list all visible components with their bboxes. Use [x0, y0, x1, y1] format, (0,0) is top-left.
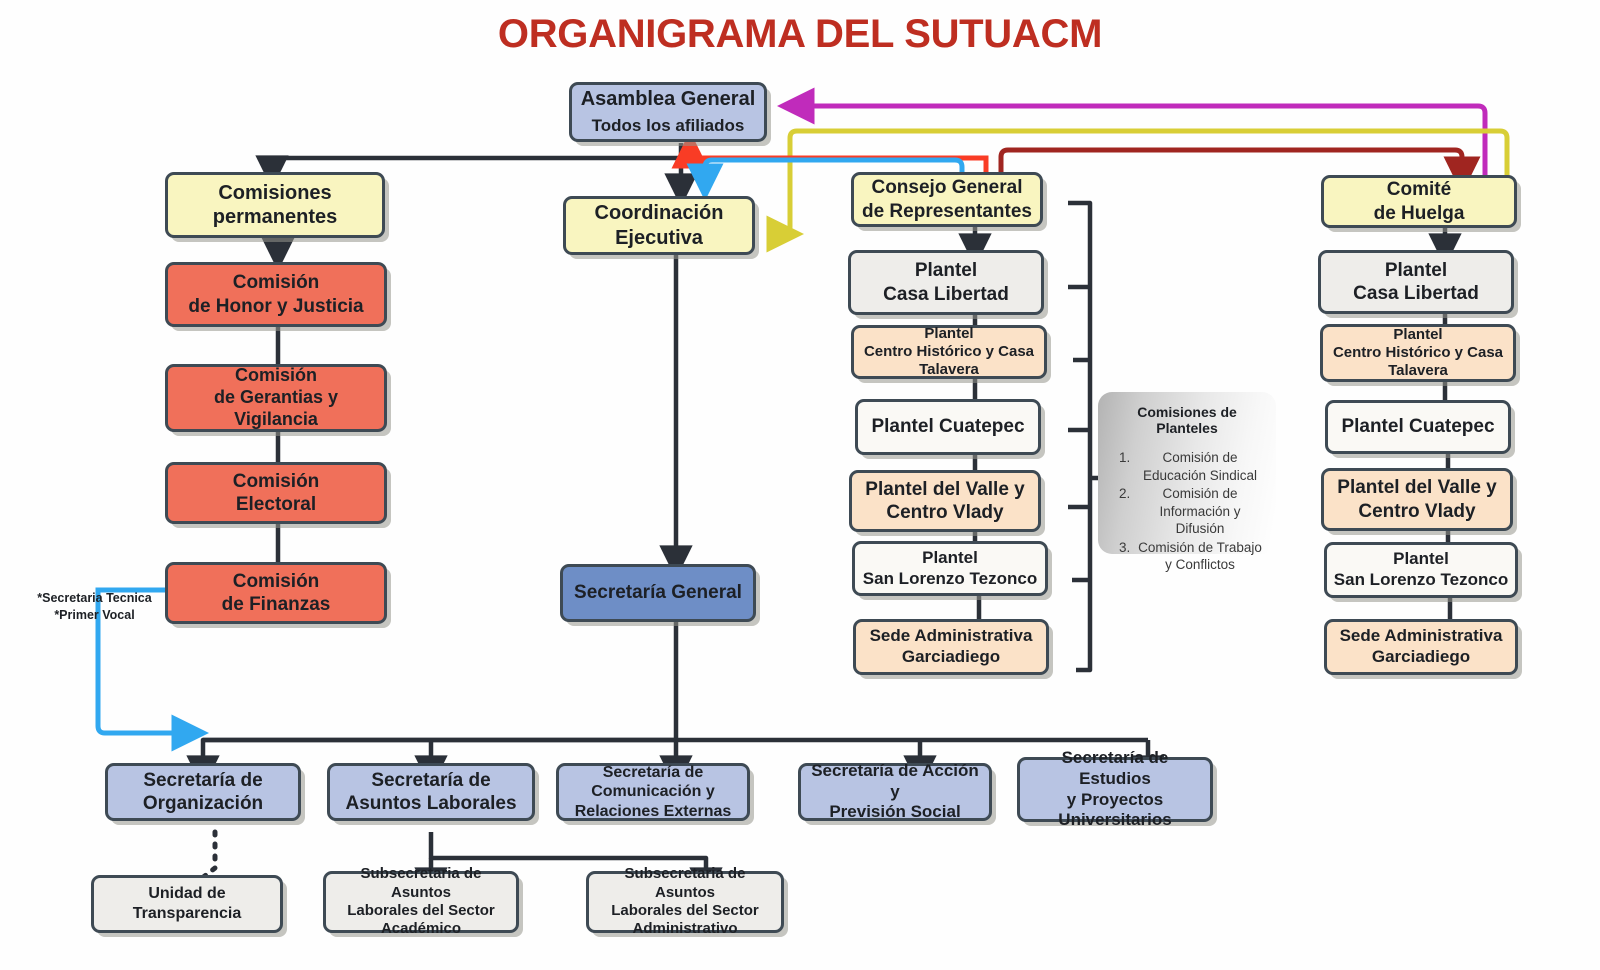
node-coordinacion-ejecutiva[interactable]: Coordinación Ejecutiva: [563, 196, 755, 255]
node-unidad-transparencia[interactable]: Unidad de Transparencia: [91, 875, 283, 933]
node-secretaria-general[interactable]: Secretaría General: [560, 564, 756, 622]
node-strike-plantel-cuatepec[interactable]: Plantel Cuatepec: [1325, 400, 1511, 454]
list-item: Comisión de Educación Sindical: [1134, 449, 1266, 484]
footnote-secretaria-tecnica: *Secretaria Tecnica *Primer Vocal: [22, 590, 167, 624]
node-council-plantel-cuatepec[interactable]: Plantel Cuatepec: [855, 399, 1041, 455]
node-comite-de-huelga[interactable]: Comité de Huelga: [1321, 175, 1517, 228]
node-comision-honor-justicia[interactable]: Comisión de Honor y Justicia: [165, 262, 387, 327]
organigrama-canvas: ORGANIGRAMA DEL SUTUACM: [0, 0, 1600, 970]
node-council-plantel-centro-historico[interactable]: Plantel Centro Histórico y Casa Talavera: [851, 325, 1047, 379]
node-council-plantel-san-lorenzo[interactable]: Plantel San Lorenzo Tezonco: [852, 541, 1048, 596]
asamblea-line2: Todos los afiliados: [592, 116, 745, 137]
node-comision-garantias-vigilancia[interactable]: Comisión de Gerantias y Vigilancia: [165, 364, 387, 432]
node-comision-electoral[interactable]: Comisión Electoral: [165, 462, 387, 524]
node-secretaria-asuntos-laborales[interactable]: Secretaría de Asuntos Laborales: [327, 763, 535, 821]
node-subsecretaria-administrativo[interactable]: Subsecretaria de Asuntos Laborales del S…: [586, 871, 784, 933]
node-council-sede-garciadiego[interactable]: Sede Administrativa Garciadiego: [853, 619, 1049, 675]
node-strike-sede-garciadiego[interactable]: Sede Administrativa Garciadiego: [1324, 619, 1518, 675]
node-asamblea-general[interactable]: Asamblea General Todos los afiliados: [569, 82, 767, 142]
node-subsecretaria-academico[interactable]: Subsecretaria de Asuntos Laborales del S…: [323, 871, 519, 933]
panel-list: Comisión de Educación Sindical Comisión …: [1108, 449, 1266, 574]
panel-title: Comisiones de Planteles: [1108, 404, 1266, 436]
node-secretaria-accion-prevision[interactable]: Secretaría de Acción y Previsión Social: [798, 763, 992, 821]
node-strike-plantel-centro-historico[interactable]: Plantel Centro Histórico y Casa Talavera: [1320, 324, 1516, 382]
node-strike-plantel-casa-libertad[interactable]: Plantel Casa Libertad: [1318, 250, 1514, 314]
node-council-plantel-valle-vlady[interactable]: Plantel del Valle y Centro Vlady: [849, 470, 1041, 532]
page-title: ORGANIGRAMA DEL SUTUACM: [0, 12, 1600, 57]
node-comision-finanzas[interactable]: Comisión de Finanzas: [165, 562, 387, 624]
node-council-plantel-casa-libertad[interactable]: Plantel Casa Libertad: [848, 250, 1044, 315]
panel-comisiones-planteles: Comisiones de Planteles Comisión de Educ…: [1098, 392, 1276, 554]
list-item: Comisión de Trabajo y Conflictos: [1134, 539, 1266, 574]
asamblea-line1: Asamblea General: [581, 87, 756, 111]
node-secretaria-organizacion[interactable]: Secretaría de Organización: [105, 763, 301, 821]
node-consejo-general-representantes[interactable]: Consejo General de Representantes: [851, 172, 1043, 227]
node-comisiones-permanentes[interactable]: Comisiones permanentes: [165, 172, 385, 238]
node-secretaria-comunicacion[interactable]: Secretaría de Comunicación y Relaciones …: [556, 763, 750, 821]
node-strike-plantel-san-lorenzo[interactable]: Plantel San Lorenzo Tezonco: [1324, 542, 1518, 598]
list-item: Comisión de Información y Difusión: [1134, 485, 1266, 538]
node-secretaria-estudios-proyectos[interactable]: Secretaría de Estudios y Proyectos Unive…: [1017, 757, 1213, 822]
node-strike-plantel-valle-vlady[interactable]: Plantel del Valle y Centro Vlady: [1321, 468, 1513, 531]
